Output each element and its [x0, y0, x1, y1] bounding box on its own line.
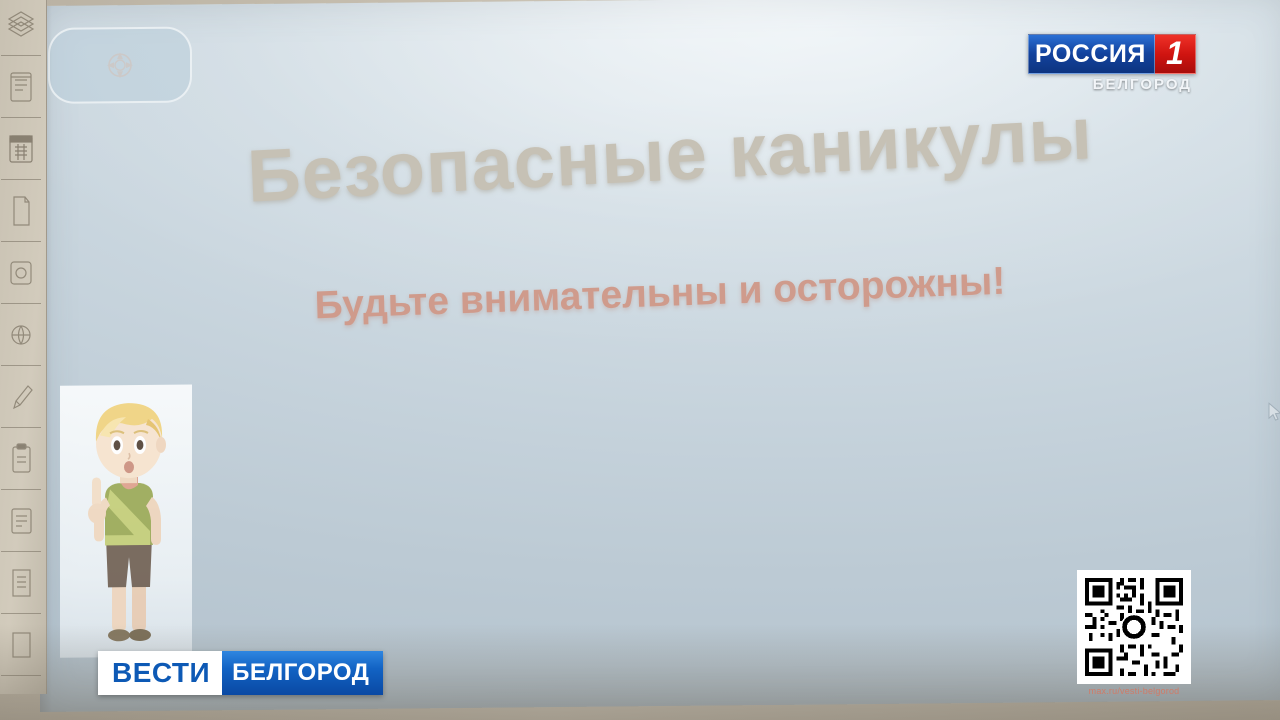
cartoon-boy-raised-finger-icon: [60, 385, 192, 658]
slide-title: Безопасные каникулы: [149, 85, 1192, 223]
channel-name: РОССИЯ: [1028, 34, 1155, 74]
mouse-pointer-icon: [1268, 402, 1280, 422]
program-logo-vesti-belgorod: ВЕСТИ БЕЛГОРОД: [98, 651, 383, 695]
school-emblem-icon: [103, 48, 137, 82]
program-region: БЕЛГОРОД: [222, 651, 383, 695]
pencil-icon: [1, 366, 41, 428]
note-icon: [1, 490, 41, 552]
screenshot-frame: Безопасные каникулы Будьте внимательны и…: [0, 0, 1280, 720]
books-icon: [1, 0, 41, 56]
cartoon-boy-illustration: [60, 385, 192, 658]
qr-caption: max.ru/vesti-belgorod: [1077, 686, 1191, 696]
page-icon: [1, 552, 41, 614]
channel-logo-row: РОССИЯ 1: [1028, 34, 1196, 74]
program-name: ВЕСТИ: [98, 651, 222, 695]
clipboard-icon: [1, 428, 41, 490]
calendar-icon: [1, 118, 41, 180]
document-icon: [1, 180, 41, 242]
channel-region: БЕЛГОРОД: [1028, 76, 1196, 93]
slide-badge: [48, 27, 192, 104]
globe-icon: [1, 304, 41, 366]
slide-subtitle: Будьте внимательны и осторожны!: [160, 254, 1161, 334]
channel-logo-rossiya-1: РОССИЯ 1 БЕЛГОРОД: [1028, 34, 1196, 93]
folder-icon: [1, 242, 41, 304]
left-wall-icon-strip: [0, 0, 47, 694]
notebook-icon: [1, 56, 41, 118]
qr-code-block[interactable]: max.ru/vesti-belgorod: [1077, 570, 1191, 696]
channel-number: 1: [1155, 34, 1196, 74]
qr-code-icon[interactable]: [1077, 570, 1191, 684]
